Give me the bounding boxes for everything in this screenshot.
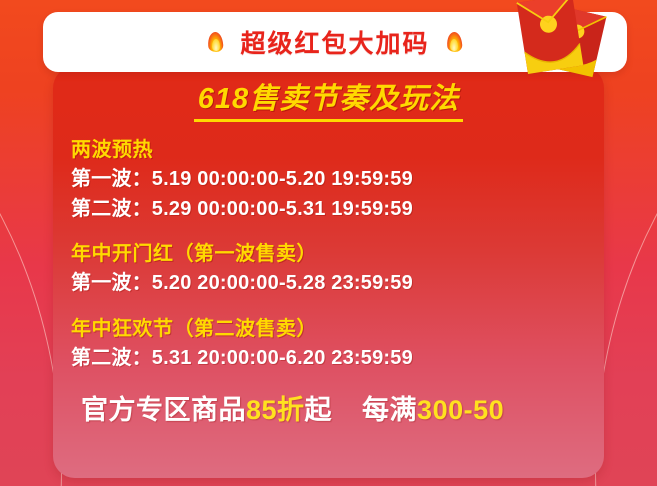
schedule-section: 两波预热 第一波：5.19 00:00:00-5.20 19:59:59 第二波… — [71, 136, 604, 224]
section-heading: 年中开门红（第一波售卖） — [71, 240, 604, 269]
promo-discount-prefix: 官方专区商品 — [81, 395, 246, 425]
promo-threshold-value: 300-50 — [417, 395, 504, 425]
card-body: 两波预热 第一波：5.19 00:00:00-5.20 19:59:59 第二波… — [53, 122, 604, 426]
promo-banner: 超级红包大加码 618售卖节奏及玩法 两波预 — [0, 0, 657, 486]
header-title: 超级红包大加码 — [240, 24, 429, 60]
section-line: 第二波：5.29 00:00:00-5.31 19:59:59 — [71, 195, 604, 225]
section-heading: 两波预热 — [71, 136, 604, 165]
promo-discount-suffix: 起 — [305, 395, 333, 425]
section-line: 第一波：5.19 00:00:00-5.20 19:59:59 — [71, 165, 604, 195]
promo-card: 618售卖节奏及玩法 两波预热 第一波：5.19 00:00:00-5.20 1… — [53, 66, 604, 478]
promo-discount: 官方专区商品85折起 — [81, 388, 332, 427]
section-heading: 年中狂欢节（第二波售卖） — [71, 315, 604, 344]
header-banner-pill: 超级红包大加码 — [43, 12, 627, 72]
promo-threshold-prefix: 每满 — [362, 395, 417, 425]
promo-threshold: 每满300-50 — [362, 388, 504, 427]
schedule-section: 年中狂欢节（第二波售卖） 第二波：5.31 20:00:00-6.20 23:5… — [71, 315, 604, 374]
section-line: 第二波：5.31 20:00:00-6.20 23:59:59 — [71, 344, 604, 374]
schedule-section: 年中开门红（第一波售卖） 第一波：5.20 20:00:00-5.28 23:5… — [71, 240, 604, 299]
fire-icon — [446, 31, 463, 53]
card-title: 618售卖节奏及玩法 — [194, 82, 463, 122]
promo-discount-value: 85折 — [246, 395, 305, 425]
fire-icon — [207, 31, 224, 53]
section-line: 第一波：5.20 20:00:00-5.28 23:59:59 — [71, 269, 604, 299]
decorative-arc-right — [595, 18, 657, 486]
promo-footer: 官方专区商品85折起 每满300-50 — [71, 388, 604, 427]
card-title-wrap: 618售卖节奏及玩法 — [53, 82, 604, 122]
